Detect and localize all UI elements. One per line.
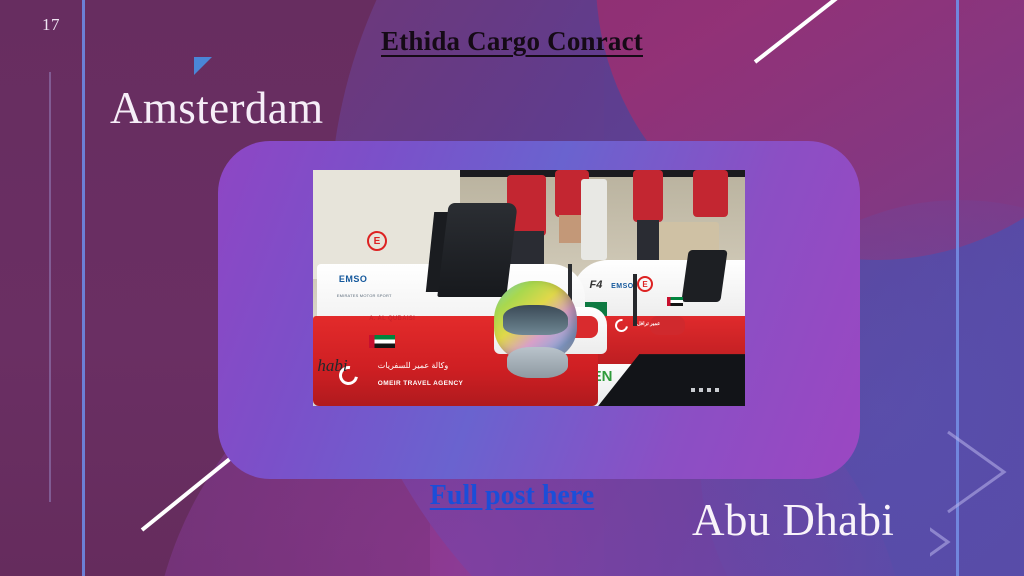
triangle-accent-icon [194,57,212,75]
decal-emso-subtitle: EMIRATES MOTOR SPORT [337,293,392,298]
driver-visor [503,305,568,336]
driver-helmet-chin [507,347,567,378]
uae-flag-icon [369,335,395,348]
decal-omeir-english: OMEIR TRAVEL AGENCY [378,380,464,387]
race-car-photo: F4 EMSO E عمير ترافل REN CONS E EMSO EMI… [313,170,745,406]
vertical-rule-faint [49,72,51,502]
person-figure [581,179,607,259]
person-figure [559,215,581,243]
origin-city-label: Amsterdam [110,82,324,134]
full-post-link[interactable]: Full post here [0,480,1024,512]
photo-tray-dots [691,388,719,392]
decal-omeir-arabic: وكالة عمير للسفريات [378,361,448,370]
decal-emso: EMSO [339,274,368,284]
presentation-slide: 17 Ethida Cargo Conract Amsterdam Abu Dh… [0,0,1024,576]
person-figure [693,170,728,217]
page-title: Ethida Cargo Conract [0,26,1024,57]
decal-emso-second-car: EMSO [611,283,634,290]
second-car-airbox [681,250,727,302]
front-car-airbox [437,203,518,297]
uae-flag-icon [667,297,683,306]
decal-dhabi-text: habi [317,356,347,376]
decal-omeir-second: عمير ترافل [637,321,660,327]
second-car-antenna [633,274,637,326]
decal-driver-name: A. AL QUBAISI [369,316,415,322]
decal-f4: F4 [589,279,602,291]
person-figure [633,170,663,222]
